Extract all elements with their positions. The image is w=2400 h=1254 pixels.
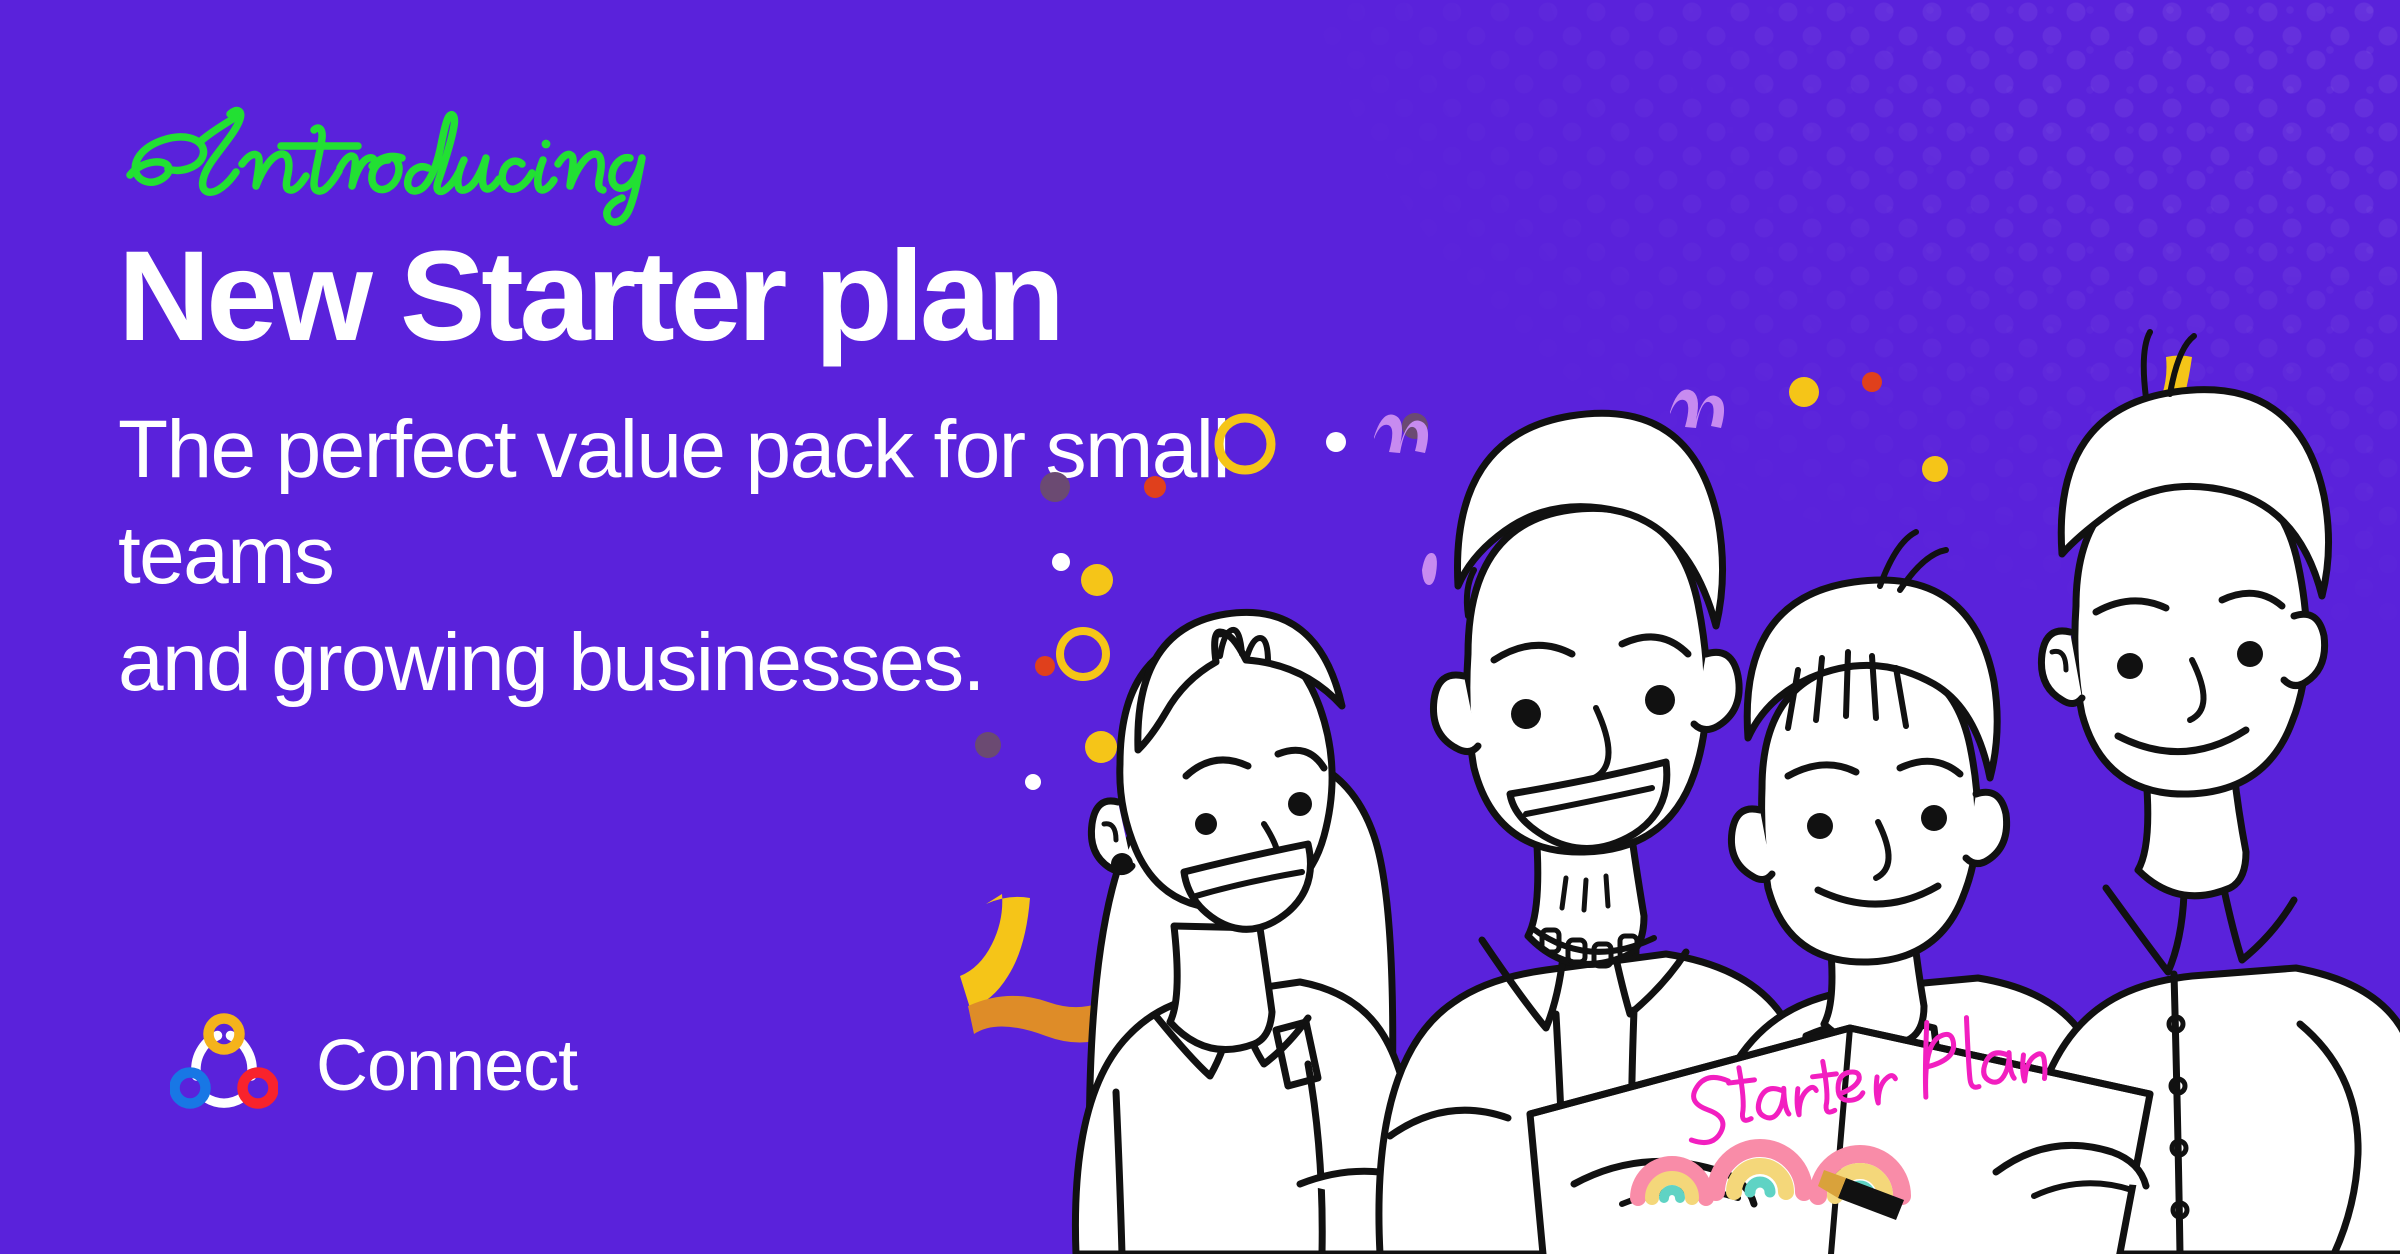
celebration-illustration: Starter Plan	[970, 324, 2400, 1254]
red-dot	[1862, 372, 1882, 392]
connect-rings-logo-icon	[170, 1012, 278, 1120]
gold-dot	[1081, 564, 1113, 596]
gold-dot	[1789, 377, 1819, 407]
people-group	[1075, 332, 2400, 1254]
promo-banner: Introducing	[0, 0, 2400, 1254]
logo-ring-top	[209, 1019, 240, 1050]
logo-ring-bottom-right	[243, 1073, 274, 1104]
plum-dot	[975, 732, 1001, 758]
white-dot	[1052, 553, 1070, 571]
gold-dot	[1922, 456, 1948, 482]
plum-dot	[1040, 472, 1070, 502]
yellow-ring-icon	[1060, 631, 1106, 677]
red-dot	[1035, 656, 1055, 676]
yellow-ring-icon	[1219, 418, 1271, 470]
red-dot	[1144, 476, 1166, 498]
eyebrow-script-introducing: Introducing	[118, 96, 1438, 228]
brand-lockup[interactable]: Connect	[170, 1012, 577, 1120]
white-dot	[1025, 774, 1041, 790]
brand-name: Connect	[316, 1030, 577, 1102]
logo-ring-bottom-left	[175, 1073, 206, 1104]
gold-dot	[1085, 731, 1117, 763]
white-dot	[1326, 432, 1346, 452]
